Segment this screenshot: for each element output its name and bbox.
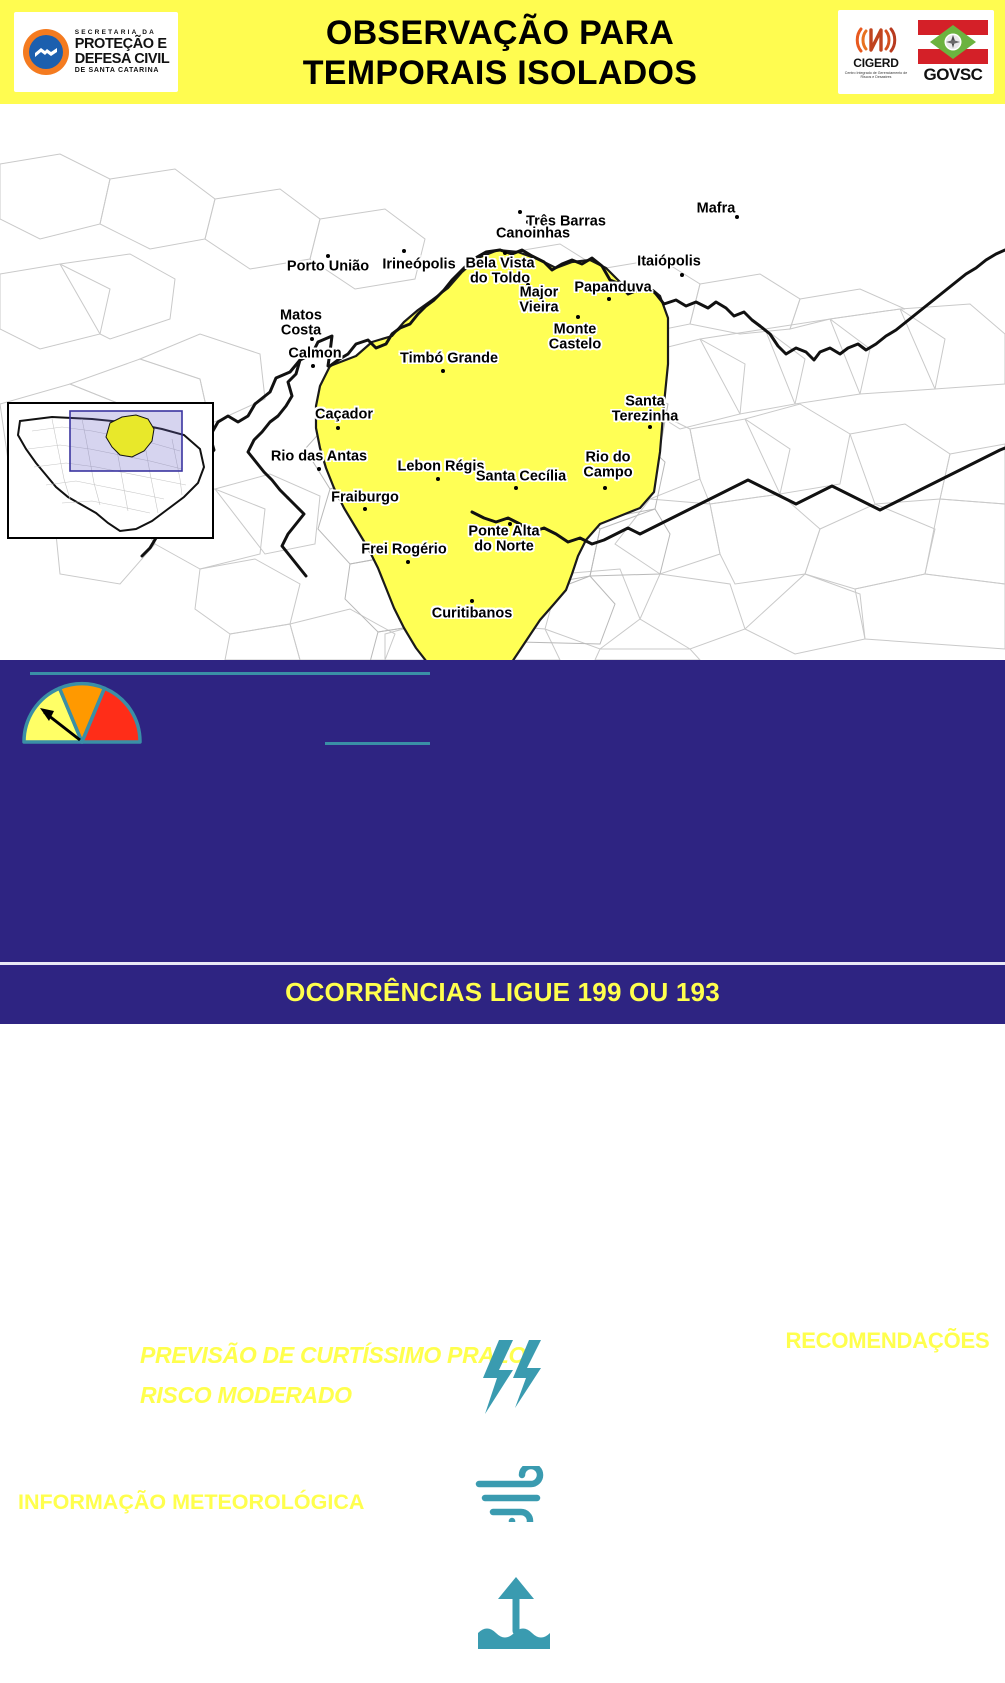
meteorologist-text: 24/03/2026 Meteorologista: Pedro H. de S…	[18, 1447, 404, 1469]
city-label: Matos Costa	[280, 309, 322, 340]
forecast-title: PREVISÃO DE CURTÍSSIMO PRAZO	[140, 1342, 526, 1369]
hazard-item-alagamentos: Alagamentos	[470, 1566, 770, 1656]
city-label: Porto União	[287, 259, 369, 274]
hazard-list: Raios Rajadas de Vento	[470, 1332, 770, 1683]
page-title-line-1: OBSERVAÇÃO PARA	[326, 13, 674, 53]
city-label: Santa Terezinha	[612, 395, 679, 426]
city-label: Bela Vista do Toldo	[465, 257, 534, 288]
city-marker-dot	[518, 210, 522, 214]
page-title-line-2: TEMPORAIS ISOLADOS	[303, 53, 698, 93]
logo-line-3: DEFESA CIVIL	[75, 52, 170, 67]
city-label: Rio do Campo	[583, 451, 632, 482]
map-geometry	[0, 104, 1005, 660]
govsc-wordmark: GOVSC	[924, 65, 983, 85]
city-label: Caçador	[315, 407, 373, 422]
recommendation-item: - Fique longe das janelas e desligue os …	[780, 1412, 995, 1450]
city-marker-dot	[576, 315, 580, 319]
city-label: Fraiburgo	[331, 490, 399, 505]
city-marker-dot	[503, 251, 507, 255]
defesa-civil-emblem-icon	[23, 29, 69, 75]
partner-logos: CIGERD Centro Integrado de Gerenciamento…	[838, 10, 994, 94]
gov-prefix: GOV	[924, 65, 960, 84]
city-marker-dot	[402, 249, 406, 253]
hazard-label: Raios	[570, 1364, 633, 1391]
divider-top	[30, 672, 430, 675]
recommendation-item: - Busque um local abrigado, longe de árv…	[780, 1356, 995, 1412]
city-label: Irineópolis	[382, 257, 455, 272]
recommendations-section: RECOMENDAÇÕES - Busque um local abrigado…	[780, 1328, 995, 1562]
city-marker-dot	[363, 507, 367, 511]
city-label: Itaiópolis	[637, 254, 701, 269]
locator-inset-map	[8, 403, 213, 538]
hands-icon	[34, 44, 58, 60]
meteo-info-body: TEMPORAIS ISOLADOS	[18, 1525, 232, 1547]
risk-level-title: RISCO MODERADO	[140, 1382, 352, 1409]
city-marker-dot	[311, 364, 315, 368]
hazard-item-rajadas: Rajadas de Vento	[470, 1449, 770, 1539]
city-label: Monte Castelo	[549, 323, 601, 354]
risk-gauge	[18, 678, 146, 750]
city-label: Rio das Antas	[271, 449, 367, 464]
city-marker-dot	[406, 560, 410, 564]
city-label: Ponte Alta do Norte	[468, 525, 539, 556]
city-marker-dot	[607, 297, 611, 301]
recommendations-list: - Busque um local abrigado, longe de árv…	[780, 1356, 995, 1562]
city-marker-dot	[436, 477, 440, 481]
gov-suffix: SC	[960, 65, 983, 84]
cigerd-subtitle: Centro Integrado de Gerenciamento de Ris…	[843, 71, 909, 80]
recommendation-item: - Cuidado com crianças próximas a rios e…	[780, 1525, 995, 1563]
govsc-logo: GOVSC	[917, 20, 989, 85]
city-label: Curitibanos	[432, 606, 513, 621]
city-marker-dot	[470, 599, 474, 603]
cigerd-mark-icon	[855, 25, 897, 55]
defesa-civil-logo: SECRETARIA DA PROTEÇÃO E DEFESA CIVIL DE…	[14, 12, 178, 92]
city-marker-dot	[317, 467, 321, 471]
city-label: Calmon	[288, 346, 341, 361]
lightning-icon	[470, 1338, 562, 1416]
emergency-phone-text: OCORRÊNCIAS LIGUE 199 OU 193	[0, 977, 1005, 1008]
santa-catarina-flag-icon	[918, 20, 988, 64]
recommendations-title: RECOMENDAÇÕES	[780, 1328, 995, 1354]
header-banner: SECRETARIA DA PROTEÇÃO E DEFESA CIVIL DE…	[0, 0, 1005, 104]
city-label: Papanduva	[574, 280, 651, 295]
city-marker-dot	[514, 486, 518, 490]
cigerd-logo: CIGERD Centro Integrado de Gerenciamento…	[843, 25, 909, 80]
city-label: Major Vieira	[519, 286, 558, 317]
city-label: Timbó Grande	[400, 351, 498, 366]
city-label: Lebon Régis	[397, 459, 484, 474]
footer-banner: OCORRÊNCIAS LIGUE 199 OU 193	[0, 960, 1005, 1024]
city-marker-dot	[603, 486, 607, 490]
city-marker-dot	[336, 426, 340, 430]
page-title: OBSERVAÇÃO PARA TEMPORAIS ISOLADOS	[200, 10, 800, 96]
city-label: Mafra	[697, 201, 736, 216]
city-marker-dot	[441, 369, 445, 373]
logo-line-4: DE SANTA CATARINA	[75, 67, 170, 74]
validity-text: Validade 18:49 até 20:49	[18, 1412, 281, 1439]
logo-line-2: PROTEÇÃO E	[75, 37, 170, 52]
flood-icon	[470, 1573, 562, 1649]
city-label: Canoinhas	[496, 226, 570, 241]
divider-risk	[325, 742, 430, 745]
city-label: Frei Rogério	[361, 542, 446, 557]
hazard-label: Alagamentos	[570, 1598, 714, 1625]
recommendation-item: - Não dirija em locais alagados.	[780, 1469, 995, 1488]
hazard-label: Rajadas de Vento	[570, 1481, 760, 1508]
city-marker-dot	[680, 273, 684, 277]
cigerd-name: CIGERD	[853, 56, 898, 70]
alert-map[interactable]: Três BarrasCanoinhasMafraPorto UniãoIrin…	[0, 104, 1005, 660]
recommendation-item: - Evite transitar em pontilhões e pontes…	[780, 1487, 995, 1525]
wind-icon	[470, 1466, 562, 1522]
info-panel: PREVISÃO DE CURTÍSSIMO PRAZO RISCO MODER…	[0, 660, 1005, 960]
footer-divider	[0, 962, 1005, 965]
recommendation-item: - Jamais fique na água.	[780, 1450, 995, 1469]
alert-infographic: SECRETARIA DA PROTEÇÃO E DEFESA CIVIL DE…	[0, 0, 1005, 1024]
hazard-item-raios: Raios	[470, 1332, 770, 1422]
city-label: Santa Cecília	[476, 469, 566, 484]
meteo-info-heading: INFORMAÇÃO METEOROLÓGICA	[18, 1490, 364, 1515]
city-marker-dot	[648, 425, 652, 429]
